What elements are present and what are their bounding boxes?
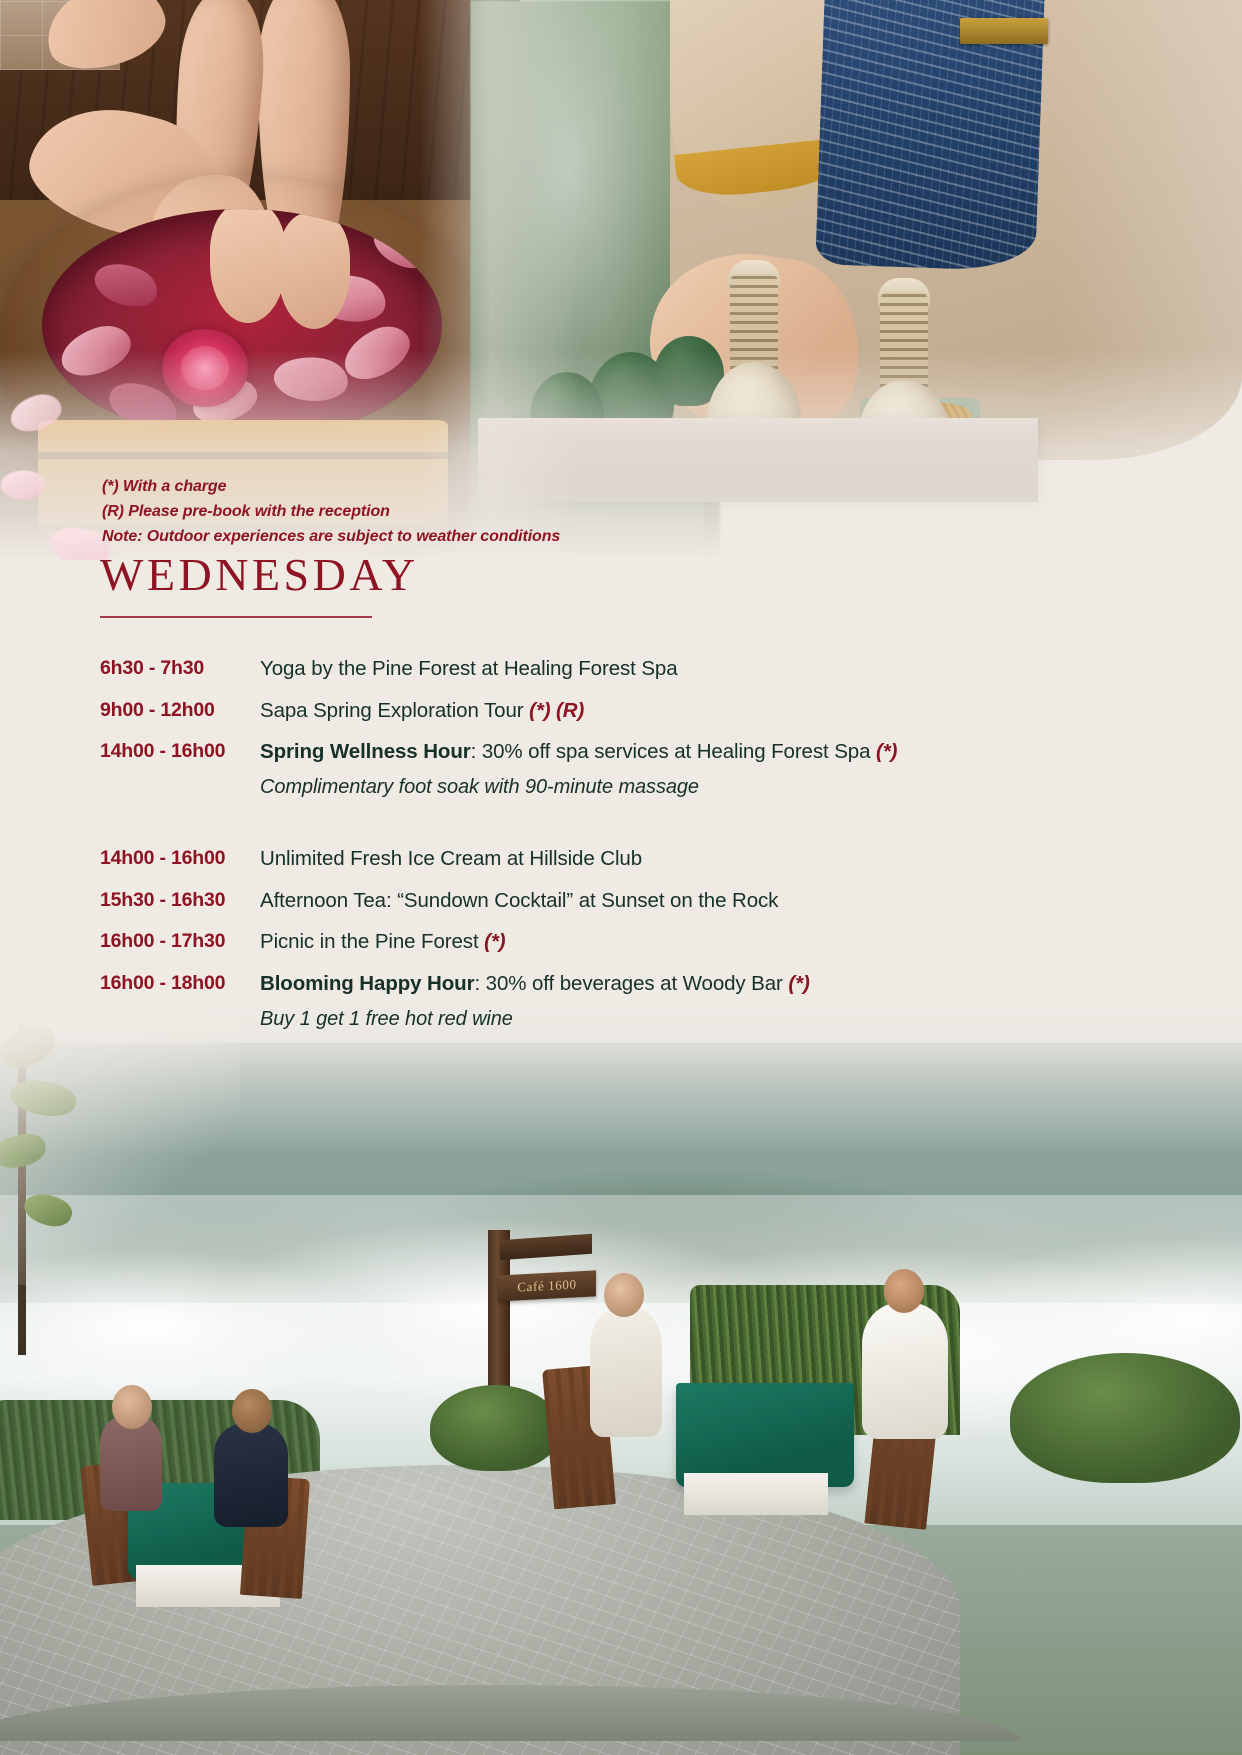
- guest-woman-left: [100, 1415, 162, 1511]
- schedule-text: Sapa Spring Exploration Tour: [260, 699, 524, 722]
- dining-table-right: [676, 1383, 854, 1487]
- guest-woman-right: [590, 1307, 662, 1437]
- schedule-row: 16h00 - 18h00Blooming Happy Hour: 30% of…: [100, 970, 1150, 1033]
- schedule-subline: Buy 1 get 1 free hot red wine: [260, 1006, 1150, 1033]
- schedule-description: Unlimited Fresh Ice Cream at Hillside Cl…: [260, 845, 1150, 873]
- schedule-description: Blooming Happy Hour: 30% off beverages a…: [260, 970, 1150, 1033]
- guest-woman-left-head: [112, 1385, 152, 1429]
- guest-man-right-head: [884, 1269, 924, 1313]
- schedule-time: 15h30 - 16h30: [100, 887, 260, 913]
- schedule-main-line: Afternoon Tea: “Sundown Cocktail” at Sun…: [260, 887, 1150, 915]
- schedule-main-line: Yoga by the Pine Forest at Healing Fores…: [260, 655, 1150, 683]
- schedule-main-line: Picnic in the Pine Forest (*): [260, 928, 1150, 956]
- title-underline: [100, 616, 372, 618]
- schedule-row: 15h30 - 16h30Afternoon Tea: “Sundown Coc…: [100, 887, 1150, 915]
- rose-bloom: [162, 329, 248, 407]
- schedule-marker: (*): [479, 930, 506, 953]
- schedule-marker: (*): [783, 972, 810, 995]
- schedule-row: 14h00 - 16h00Spring Wellness Hour: 30% o…: [100, 738, 1150, 801]
- schedule-row: 6h30 - 7h30Yoga by the Pine Forest at He…: [100, 655, 1150, 683]
- guest-woman-right-head: [604, 1273, 644, 1317]
- schedule-text: Unlimited Fresh Ice Cream at Hillside Cl…: [260, 847, 642, 870]
- schedule-row: 9h00 - 12h00Sapa Spring Exploration Tour…: [100, 697, 1150, 725]
- cafe-sign-board: Café 1600: [498, 1270, 596, 1301]
- schedule-lead: Spring Wellness Hour: [260, 740, 471, 763]
- schedule-text: Picnic in the Pine Forest: [260, 930, 479, 953]
- schedule-main-line: Spring Wellness Hour: 30% off spa servic…: [260, 738, 1150, 766]
- schedule-time: 14h00 - 16h00: [100, 845, 260, 871]
- table-undercloth-right: [684, 1473, 828, 1515]
- name-badge: [960, 18, 1048, 44]
- schedule-marker: (*) (R): [524, 699, 585, 722]
- footnote-line: (*) With a charge: [102, 475, 560, 500]
- schedule-main-line: Sapa Spring Exploration Tour (*) (R): [260, 697, 1150, 725]
- schedule-group-gap: [100, 823, 1150, 845]
- schedule-main-line: Blooming Happy Hour: 30% off beverages a…: [260, 970, 1150, 998]
- schedule-description: Picnic in the Pine Forest (*): [260, 928, 1150, 956]
- schedule-time: 16h00 - 17h30: [100, 928, 260, 954]
- schedule-section: WEDNESDAY 6h30 - 7h30Yoga by the Pine Fo…: [0, 520, 1242, 1160]
- schedule-marker: (*): [870, 740, 897, 763]
- cafe-sign-label: Café 1600: [517, 1276, 576, 1295]
- page-title: WEDNESDAY: [100, 552, 419, 598]
- basin-hoop: [38, 452, 448, 459]
- footnote-line: Note: Outdoor experiences are subject to…: [102, 525, 560, 550]
- poster-canvas: WEDNESDAY 6h30 - 7h30Yoga by the Pine Fo…: [0, 0, 1242, 1755]
- schedule-description: Sapa Spring Exploration Tour (*) (R): [260, 697, 1150, 725]
- schedule-subline: Complimentary foot soak with 90-minute m…: [260, 774, 1150, 801]
- schedule-time: 9h00 - 12h00: [100, 697, 260, 723]
- schedule-description: Yoga by the Pine Forest at Healing Fores…: [260, 655, 1150, 683]
- schedule-main-line: Unlimited Fresh Ice Cream at Hillside Cl…: [260, 845, 1150, 873]
- guest-man-left: [214, 1423, 288, 1527]
- schedule-lead: Blooming Happy Hour: [260, 972, 474, 995]
- schedule-time: 16h00 - 18h00: [100, 970, 260, 996]
- schedule-text: Afternoon Tea: “Sundown Cocktail” at Sun…: [260, 889, 778, 912]
- footnotes: (*) With a charge(R) Please pre-book wit…: [102, 475, 560, 549]
- footnote-line: (R) Please pre-book with the reception: [102, 500, 560, 525]
- guest-man-right: [862, 1303, 948, 1439]
- schedule-row: 16h00 - 17h30Picnic in the Pine Forest (…: [100, 928, 1150, 956]
- wooden-tray: [478, 418, 1038, 502]
- rose-water: [42, 209, 442, 441]
- shrub-center: [430, 1385, 560, 1471]
- schedule-row: 14h00 - 16h00Unlimited Fresh Ice Cream a…: [100, 845, 1150, 873]
- schedule-description: Spring Wellness Hour: 30% off spa servic…: [260, 738, 1150, 801]
- schedule-description: Afternoon Tea: “Sundown Cocktail” at Sun…: [260, 887, 1150, 915]
- guest-man-left-head: [232, 1389, 272, 1433]
- schedule-time: 14h00 - 16h00: [100, 738, 260, 764]
- schedule-time: 6h30 - 7h30: [100, 655, 260, 681]
- shrub-right: [1010, 1353, 1240, 1483]
- spa-therapist-photo: [470, 0, 1242, 560]
- schedule-list: 6h30 - 7h30Yoga by the Pine Forest at He…: [100, 655, 1150, 1055]
- schedule-text: : 30% off beverages at Woody Bar: [474, 972, 782, 995]
- schedule-text: Yoga by the Pine Forest at Healing Fores…: [260, 657, 678, 680]
- schedule-text: : 30% off spa services at Healing Forest…: [471, 740, 871, 763]
